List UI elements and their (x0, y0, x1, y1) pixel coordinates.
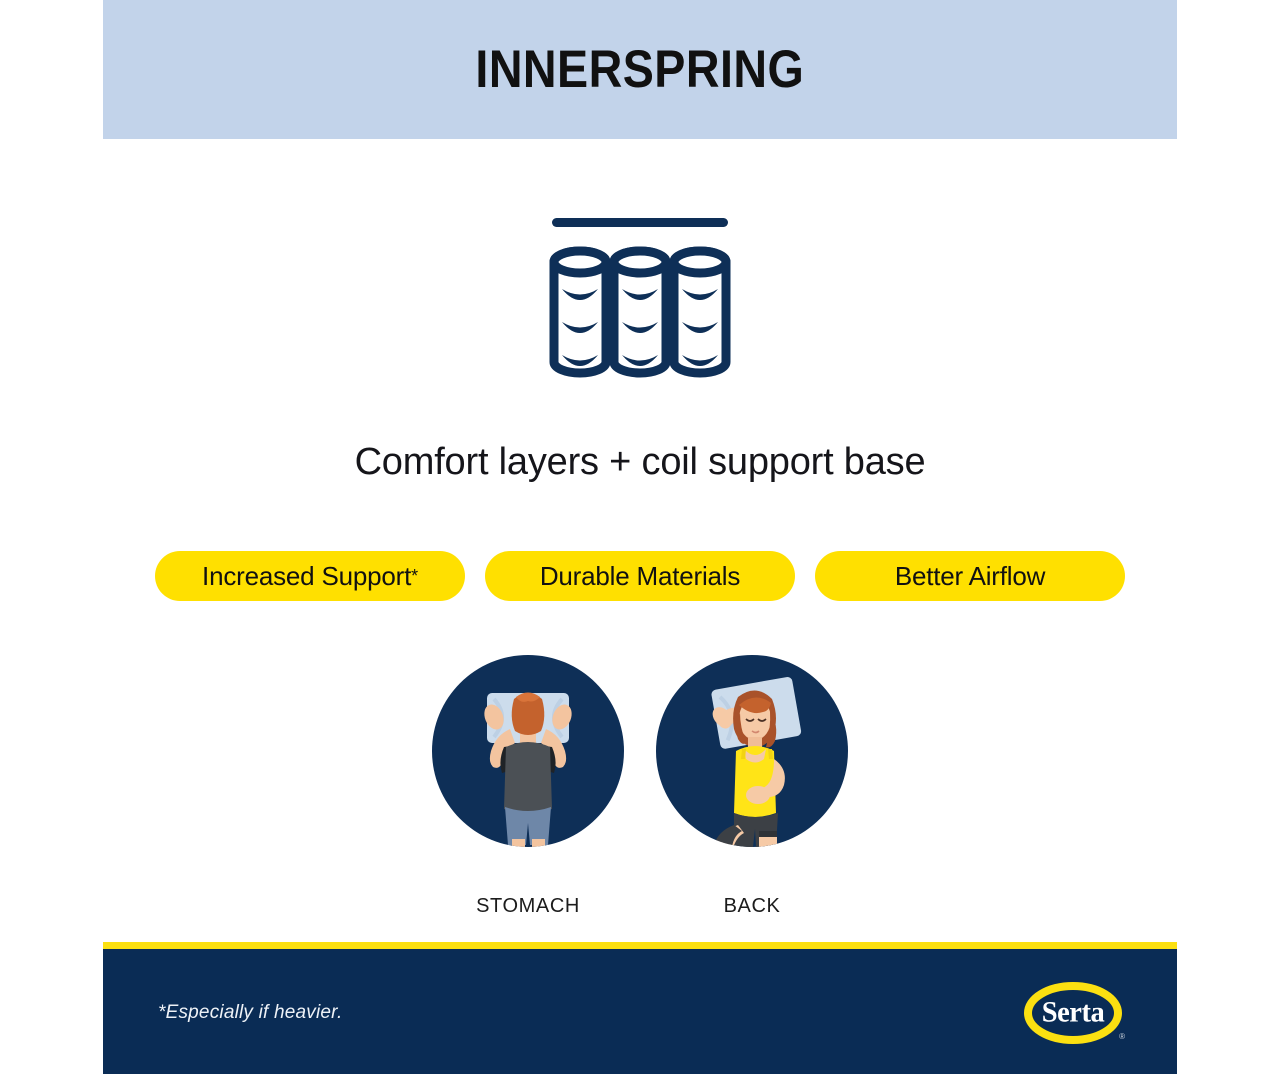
pill-label: Increased Support (202, 561, 411, 592)
headline-text: Comfort layers + coil support base (103, 441, 1177, 484)
benefit-pill-row: Increased Support* Durable Materials Bet… (155, 551, 1125, 601)
stomach-sleeper-illustration (432, 655, 624, 847)
sleep-positions-row: STOMACH (103, 655, 1177, 918)
footnote-text: *Especially if heavier. (158, 1002, 342, 1024)
pill-label: Better Airflow (895, 561, 1045, 592)
registered-trademark-icon: ® (1119, 1032, 1125, 1041)
benefit-pill-increased-support[interactable]: Increased Support* (155, 551, 465, 601)
pill-label: Durable Materials (540, 561, 740, 592)
innerspring-card: INNERSPRING (103, 0, 1177, 1074)
header-band: INNERSPRING (103, 0, 1177, 139)
benefit-pill-durable-materials[interactable]: Durable Materials (485, 551, 795, 601)
stomach-sleeper-circle (432, 655, 624, 847)
footer-accent-bar (103, 942, 1177, 949)
back-sleeper-illustration (656, 655, 848, 847)
sleep-position-stomach[interactable]: STOMACH (430, 655, 626, 918)
page-title: INNERSPRING (476, 39, 805, 100)
benefit-pill-better-airflow[interactable]: Better Airflow (815, 551, 1125, 601)
infographic-page: INNERSPRING (0, 0, 1280, 1074)
sleep-position-label-back: BACK (724, 895, 781, 918)
footer-band: *Especially if heavier. Serta ® (103, 949, 1177, 1074)
serta-wordmark: Serta (1042, 995, 1105, 1029)
sleep-position-label-stomach: STOMACH (476, 895, 580, 918)
back-sleeper-circle (656, 655, 848, 847)
coil-springs-icon (540, 200, 740, 400)
coil-icon-container (103, 195, 1177, 405)
serta-logo[interactable]: Serta ® (1023, 982, 1123, 1044)
sleep-position-back[interactable]: BACK (654, 655, 850, 918)
